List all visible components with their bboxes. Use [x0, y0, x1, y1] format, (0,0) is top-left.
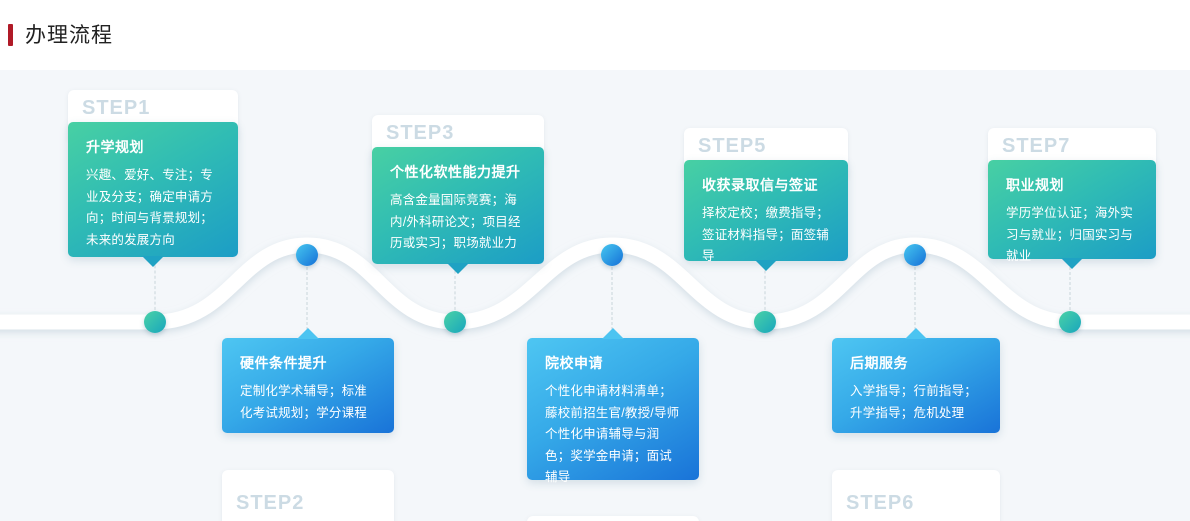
card-pointer-5: [755, 260, 777, 271]
step-heading-3: 个性化软性能力提升: [390, 163, 526, 181]
flow-node-1[interactable]: [144, 311, 166, 333]
step-label-panel-4: STEP4: [527, 516, 699, 521]
process-flow-page: 办理流程 STEP1: [0, 0, 1190, 521]
step-heading-2: 硬件条件提升: [240, 354, 376, 372]
title-accent-bar: [8, 24, 13, 46]
step-label-3: STEP3: [386, 122, 544, 145]
step-card-6[interactable]: 后期服务 入学指导；行前指导；升学指导；危机处理: [832, 338, 1000, 433]
step-card-1[interactable]: 升学规划 兴趣、爱好、专注；专业及分支；确定申请方向；时间与背景规划；未来的发展…: [68, 122, 238, 257]
step-card-7[interactable]: 职业规划 学历学位认证；海外实习与就业；归国实习与就业: [988, 160, 1156, 259]
card-pointer-7: [1061, 258, 1083, 269]
card-pointer-1: [142, 256, 164, 267]
card-pointer-3: [447, 263, 469, 274]
step-label-2: STEP2: [236, 492, 394, 515]
flow-node-3[interactable]: [444, 311, 466, 333]
step-card-group-5: STEP5 收获录取信与签证 择校定校；缴费指导；签证材料指导；面签辅导: [684, 128, 848, 263]
step-card-3[interactable]: 个性化软性能力提升 高含金量国际竞赛；海内/外科研论文；项目经历或实习；职场就业…: [372, 147, 544, 264]
step-description-6: 入学指导；行前指导；升学指导；危机处理: [850, 381, 982, 424]
step-label-7: STEP7: [1002, 135, 1156, 158]
step-card-group-2: STEP2 硬件条件提升 定制化学术辅导；标准化考试规划；学分课程: [222, 338, 394, 521]
flow-node-2[interactable]: [296, 244, 318, 266]
step-heading-1: 升学规划: [86, 138, 220, 156]
page-title: 办理流程: [25, 25, 113, 46]
step-description-2: 定制化学术辅导；标准化考试规划；学分课程: [240, 381, 376, 424]
step-card-group-7: STEP7 职业规划 学历学位认证；海外实习与就业；归国实习与就业: [988, 128, 1156, 263]
step-label-5: STEP5: [698, 135, 848, 158]
step-card-group-6: STEP6 后期服务 入学指导；行前指导；升学指导；危机处理: [832, 338, 1000, 521]
card-pointer-2: [297, 328, 319, 339]
step-card-4[interactable]: 院校申请 个性化申请材料清单；藤校前招生官/教授/导师个性化申请辅导与润色；奖学…: [527, 338, 699, 480]
step-heading-7: 职业规划: [1006, 176, 1138, 194]
step-label-panel-6: STEP6: [832, 470, 1000, 521]
flow-node-4[interactable]: [601, 244, 623, 266]
step-description-4: 个性化申请材料清单；藤校前招生官/教授/导师个性化申请辅导与润色；奖学金申请；面…: [545, 381, 681, 489]
page-header: 办理流程: [0, 0, 1190, 70]
flow-node-5[interactable]: [754, 311, 776, 333]
title-wrap: 办理流程: [0, 24, 113, 46]
flow-panel: STEP1 升学规划 兴趣、爱好、专注；专业及分支；确定申请方向；时间与背景规划…: [0, 70, 1190, 521]
flow-node-7[interactable]: [1059, 311, 1081, 333]
step-description-1: 兴趣、爱好、专注；专业及分支；确定申请方向；时间与背景规划；未来的发展方向: [86, 165, 220, 251]
step-card-5[interactable]: 收获录取信与签证 择校定校；缴费指导；签证材料指导；面签辅导: [684, 160, 848, 261]
step-heading-4: 院校申请: [545, 354, 681, 372]
step-description-3: 高含金量国际竞赛；海内/外科研论文；项目经历或实习；职场就业力: [390, 190, 526, 255]
flow-node-6[interactable]: [904, 244, 926, 266]
step-heading-5: 收获录取信与签证: [702, 176, 830, 194]
step-label-panel-2: STEP2: [222, 470, 394, 521]
step-description-5: 择校定校；缴费指导；签证材料指导；面签辅导: [702, 203, 830, 268]
step-card-group-1: STEP1 升学规划 兴趣、爱好、专注；专业及分支；确定申请方向；时间与背景规划…: [68, 90, 238, 260]
step-card-2[interactable]: 硬件条件提升 定制化学术辅导；标准化考试规划；学分课程: [222, 338, 394, 433]
step-card-group-4: STEP4 院校申请 个性化申请材料清单；藤校前招生官/教授/导师个性化申请辅导…: [527, 338, 699, 521]
step-label-1: STEP1: [82, 97, 238, 120]
card-pointer-4: [602, 328, 624, 339]
step-label-6: STEP6: [846, 492, 1000, 515]
card-pointer-6: [905, 328, 927, 339]
step-heading-6: 后期服务: [850, 354, 982, 372]
step-card-group-3: STEP3 个性化软性能力提升 高含金量国际竞赛；海内/外科研论文；项目经历或实…: [372, 115, 544, 265]
